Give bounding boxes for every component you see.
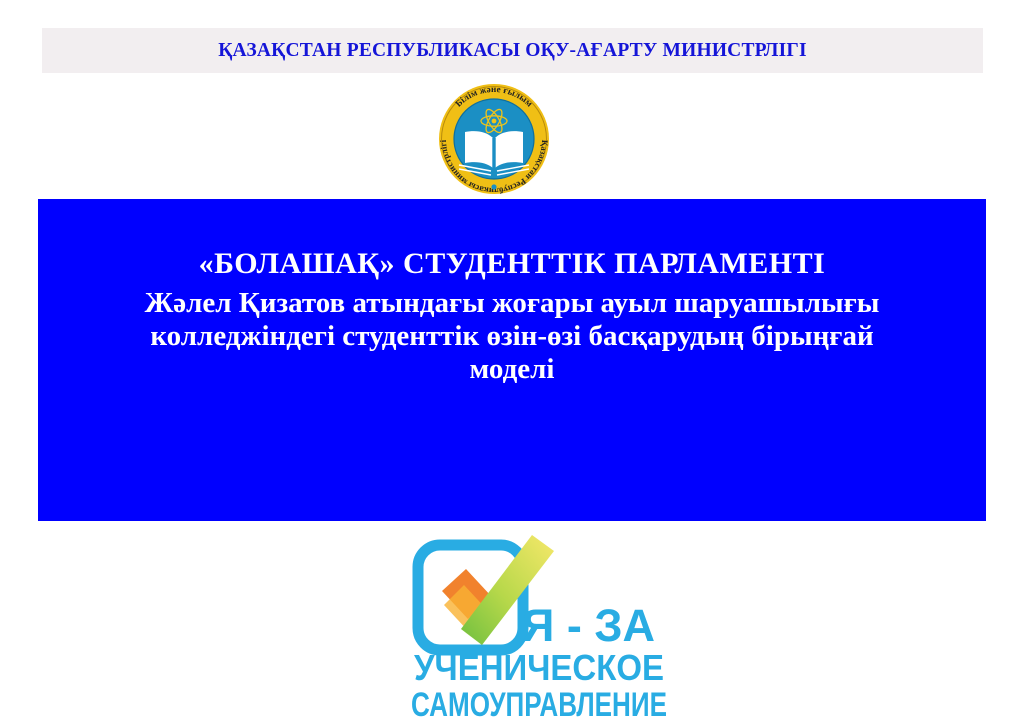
selfgov-logo-graphic: Я - ЗА УЧЕНИЧЕСКОЕ САМОУПРАВЛЕНИЕ [404, 533, 674, 724]
slogan-top: Я - ЗА [522, 600, 655, 651]
slogan-bottom: САМОУПРАВЛЕНИЕ [411, 686, 667, 724]
ministry-emblem-graphic: Білім және ғылым Қазақстан Республикасы … [429, 83, 560, 195]
ministry-header-title: ҚАЗАҚСТАН РЕСПУБЛИКАСЫ ОҚУ-АҒАРТУ МИНИСТ… [42, 28, 983, 73]
title-line-4: моделі [48, 353, 976, 386]
title-panel: «БОЛАШАҚ» СТУДЕНТТІК ПАРЛАМЕНТІ Жәлел Қи… [38, 199, 986, 521]
slogan-mid: УЧЕНИЧЕСКОЕ [414, 647, 664, 688]
title-line-3: колледжіндегі студенттік өзін-өзі басқар… [48, 320, 976, 353]
title-line-1: «БОЛАШАҚ» СТУДЕНТТІК ПАРЛАМЕНТІ [48, 247, 976, 281]
emblem-ring-dot [491, 184, 496, 189]
title-line-2: Жәлел Қизатов атындағы жоғары ауыл шаруа… [48, 287, 976, 320]
presentation-slide: ҚАЗАҚСТАН РЕСПУБЛИКАСЫ ОҚУ-АҒАРТУ МИНИСТ… [0, 0, 1024, 724]
selfgov-logo: Я - ЗА УЧЕНИЧЕСКОЕ САМОУПРАВЛЕНИЕ [404, 533, 674, 724]
ministry-emblem: Білім және ғылым Қазақстан Республикасы … [429, 83, 560, 195]
